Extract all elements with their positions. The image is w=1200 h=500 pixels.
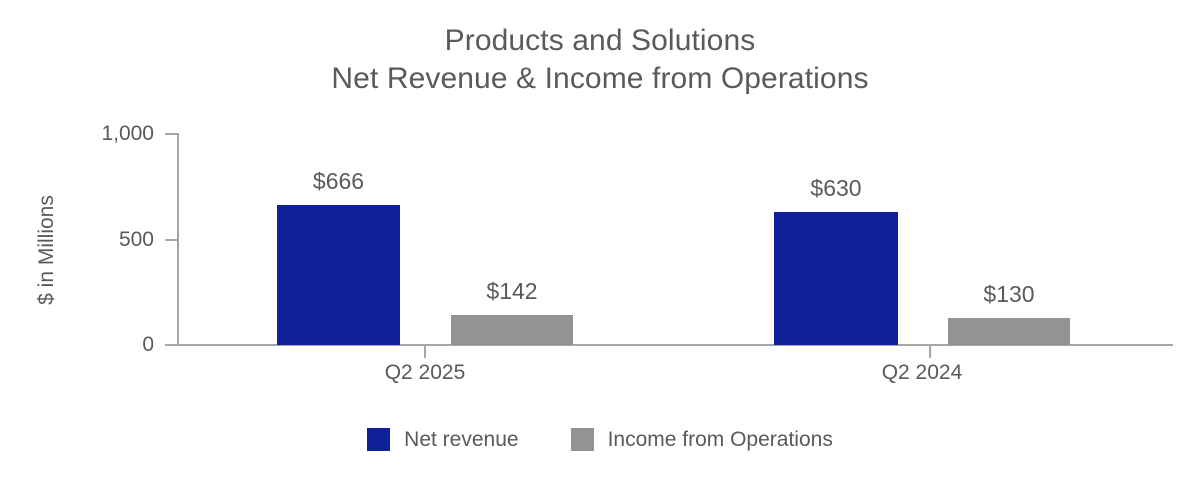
legend-swatch-income-from-operations	[571, 428, 594, 451]
bar-income-from-operations-q2-2024[interactable]	[948, 318, 1070, 345]
legend-label-net-revenue: Net revenue	[404, 428, 518, 451]
x-axis-category-q2-2025: Q2 2025	[305, 361, 545, 385]
bar-income-from-operations-q2-2025[interactable]	[451, 315, 573, 345]
legend-label-income-from-operations: Income from Operations	[608, 428, 833, 451]
x-axis-tick-2	[929, 346, 931, 358]
bar-label-income-from-operations-q2-2025: $142	[451, 280, 573, 303]
plot-area: 1,000 500 0 $666 $142 $630 $130 Q2 2025 …	[0, 0, 1200, 500]
y-axis-label-1000: 1,000	[34, 123, 154, 144]
bar-net-revenue-q2-2025[interactable]	[277, 205, 400, 345]
bar-label-net-revenue-q2-2024: $630	[775, 177, 897, 200]
legend-item-net-revenue[interactable]: Net revenue	[367, 428, 518, 451]
y-axis-label-0: 0	[34, 334, 154, 355]
bar-label-net-revenue-q2-2025: $666	[278, 170, 399, 193]
legend-item-income-from-operations[interactable]: Income from Operations	[571, 428, 833, 451]
y-axis-line	[177, 133, 179, 346]
bar-net-revenue-q2-2024[interactable]	[774, 212, 898, 345]
x-axis-tick-1	[424, 346, 426, 358]
bar-label-income-from-operations-q2-2024: $130	[948, 283, 1070, 306]
x-axis-category-q2-2024: Q2 2024	[802, 361, 1042, 385]
bar-chart: Products and Solutions Net Revenue & Inc…	[0, 0, 1200, 500]
legend-swatch-net-revenue	[367, 428, 390, 451]
y-axis-tick-1000	[165, 133, 177, 135]
chart-legend: Net revenue Income from Operations	[0, 428, 1200, 451]
y-axis-label-500: 500	[34, 229, 154, 250]
y-axis-tick-0	[165, 344, 177, 346]
y-axis-tick-500	[165, 239, 177, 241]
